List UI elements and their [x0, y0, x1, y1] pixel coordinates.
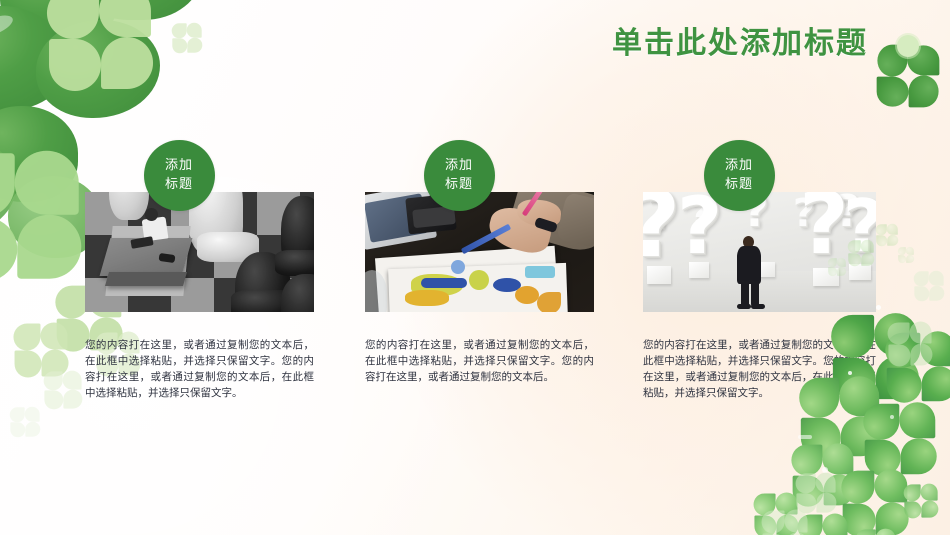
clover-shape	[792, 413, 854, 475]
page-title: 单击此处添加标题	[612, 18, 868, 62]
badge-line-2: 标题	[445, 176, 473, 195]
chess-board-miniature-businessman-photo[interactable]	[85, 192, 314, 312]
badge-line-2: 标题	[725, 176, 753, 195]
slide-header: 单击此处添加标题	[0, 0, 950, 86]
clover-shape	[706, 527, 740, 535]
clover-shape	[800, 337, 880, 417]
clover-shape	[886, 297, 950, 367]
clover-shape	[832, 271, 918, 357]
slide-canvas: 单击此处添加标题	[0, 0, 950, 535]
column-body-text-2: 您的内容打在这里，或者通过复制您的文本后，在此框中选择粘贴，并选择只保留文字。您…	[365, 338, 594, 386]
clover-shape	[828, 249, 846, 267]
four-leaf-clover-icon	[876, 16, 940, 76]
clover-shape	[842, 437, 908, 503]
bottom-right-clover-cascade	[680, 245, 950, 535]
hands-reviewing-charts-photo[interactable]	[365, 192, 594, 312]
badge-line-1: 添加	[165, 157, 193, 176]
clover-shape	[798, 489, 848, 535]
column-badge-1[interactable]: 添加 标题	[144, 140, 215, 211]
column-badge-3[interactable]: 添加 标题	[704, 140, 775, 211]
column-body-text-1: 您的内容打在这里，或者通过复制您的文本后，在此框中选择粘贴，并选择只保留文字。您…	[85, 338, 314, 402]
clover-shape	[856, 509, 896, 535]
badge-line-1: 添加	[725, 157, 753, 176]
badge-line-2: 标题	[165, 176, 193, 195]
clover-shape	[864, 367, 936, 439]
column-badge-2[interactable]: 添加 标题	[424, 140, 495, 211]
clover-shape	[904, 467, 938, 501]
clover-shape	[754, 471, 798, 515]
badge-line-1: 添加	[445, 157, 473, 176]
